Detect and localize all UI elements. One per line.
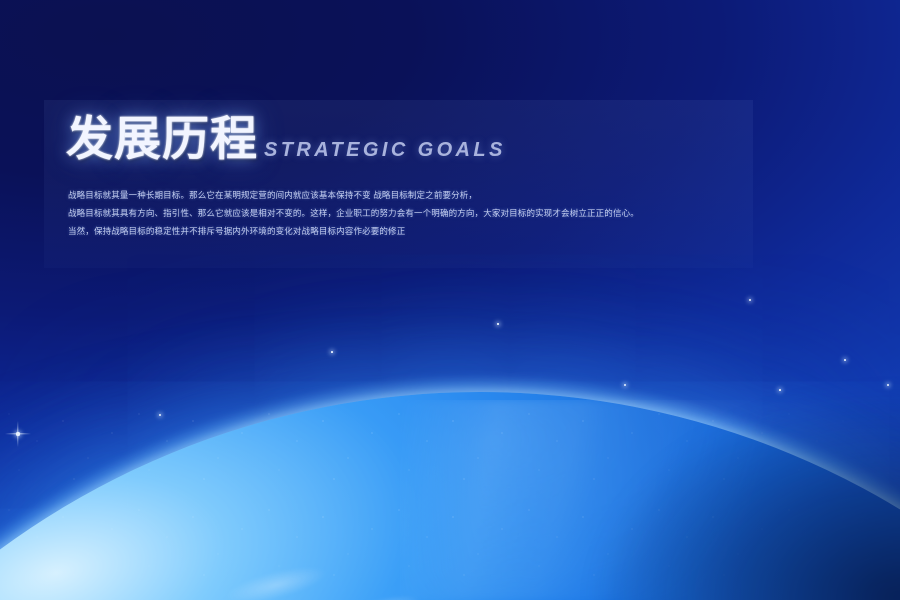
body-copy: 战略目标就其量一种长期目标。那么它在某明规定营的间内就应该基本保持不变 战略目标…: [68, 188, 748, 238]
star-icon: [159, 414, 161, 416]
body-paragraph: 当然，保持战略目标的稳定性并不排斥号据内外环境的变化对战略目标内容作必要的修正: [68, 224, 748, 238]
star-icon: [497, 323, 498, 324]
banner-canvas: 发展历程 STRATEGIC GOALS 战略目标就其量一种长期目标。那么它在某…: [0, 0, 900, 600]
body-paragraph: 战略目标就其量一种长期目标。那么它在某明规定营的间内就应该基本保持不变 战略目标…: [68, 188, 748, 202]
star-icon: [887, 384, 889, 386]
banner-heading: 发展历程 STRATEGIC GOALS: [66, 116, 506, 163]
earth-terminator-shadow: [420, 340, 900, 600]
star-icon: [844, 359, 846, 361]
star-icon: [331, 351, 333, 353]
star-icon: [779, 389, 781, 391]
page-title: 发展历程: [66, 116, 258, 163]
page-subtitle: STRATEGIC GOALS: [264, 140, 506, 160]
star-icon: [16, 432, 19, 435]
earth-globe: [0, 0, 900, 600]
body-paragraph: 战略目标就其具有方向、指引性、那么它就应该是相对不变的。这样，企业职工的努力会有…: [68, 206, 748, 220]
